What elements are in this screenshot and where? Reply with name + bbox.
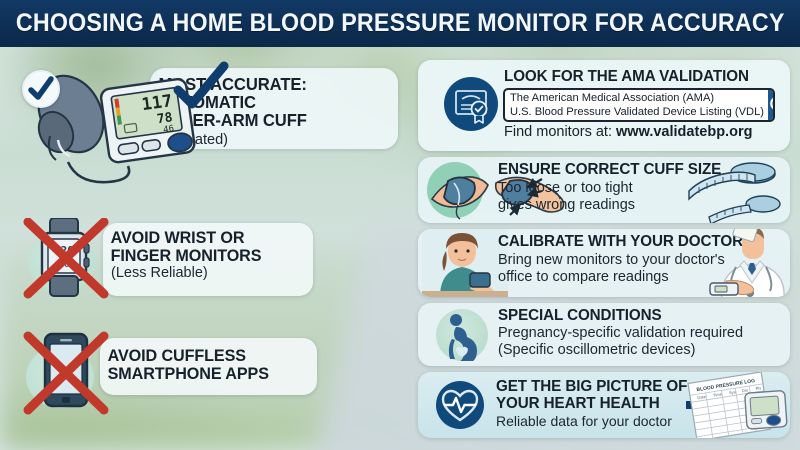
smartphone-illustration xyxy=(20,328,115,418)
right-column xyxy=(405,47,800,450)
page-header: CHOOSING A HOME BLOOD PRESSURE MONITOR F… xyxy=(0,0,800,47)
large-check-mark-icon xyxy=(172,60,232,114)
red-x-icon-phone xyxy=(20,328,115,418)
check-badge-icon xyxy=(22,70,60,108)
red-x-icon-wrist xyxy=(20,218,120,303)
wrist-watch-monitor-illustration: 120 80 xyxy=(20,218,120,303)
page-title: CHOOSING A HOME BLOOD PRESSURE MONITOR F… xyxy=(16,9,785,38)
